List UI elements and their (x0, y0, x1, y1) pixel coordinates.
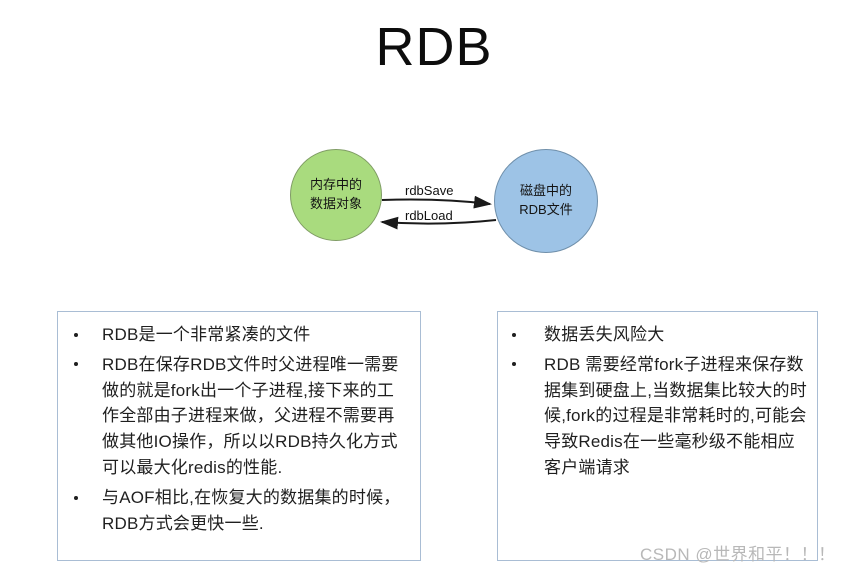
list-item: RDB 需要经常fork子进程来保存数据集到硬盘上,当数据集比较大的时候,for… (498, 352, 807, 481)
list-item-text: RDB 需要经常fork子进程来保存数据集到硬盘上,当数据集比较大的时候,for… (544, 355, 807, 477)
list-item-text: 数据丢失风险大 (544, 325, 664, 344)
diagram-node-memory: 内存中的 数据对象 (290, 149, 382, 241)
node-disk-line2: RDB文件 (519, 201, 572, 220)
list-item-text: 与AOF相比,在恢复大的数据集的时候，RDB方式会更快一些. (102, 488, 400, 533)
node-memory-line1: 内存中的 (310, 176, 362, 195)
advantages-box: RDB是一个非常紧凑的文件 RDB在保存RDB文件时父进程唯一需要做的就是for… (57, 311, 421, 561)
bullet-dot-icon (74, 496, 78, 500)
edge-label-rdbload: rdbLoad (405, 208, 453, 223)
node-memory-line2: 数据对象 (310, 195, 362, 214)
edge-rdbsave-arrow (382, 200, 490, 205)
bullet-dot-icon (512, 362, 516, 366)
list-item-text: RDB在保存RDB文件时父进程唯一需要做的就是fork出一个子进程,接下来的工作… (102, 355, 399, 477)
advantages-list: RDB是一个非常紧凑的文件 RDB在保存RDB文件时父进程唯一需要做的就是for… (58, 322, 410, 537)
list-item: RDB在保存RDB文件时父进程唯一需要做的就是fork出一个子进程,接下来的工作… (58, 352, 410, 481)
rdb-flow-diagram: 内存中的 数据对象 磁盘中的 RDB文件 rdbSave rdbLoad (0, 140, 868, 285)
watermark: CSDN @世界和平！！！ (640, 540, 836, 565)
bullet-dot-icon (512, 333, 516, 337)
edge-label-rdbsave: rdbSave (405, 183, 453, 198)
diagram-node-disk: 磁盘中的 RDB文件 (494, 149, 598, 253)
list-item: 数据丢失风险大 (498, 322, 807, 348)
list-item-text: RDB是一个非常紧凑的文件 (102, 325, 311, 344)
list-item: RDB是一个非常紧凑的文件 (58, 322, 410, 348)
list-item: 与AOF相比,在恢复大的数据集的时候，RDB方式会更快一些. (58, 485, 410, 537)
bullet-dot-icon (74, 333, 78, 337)
disadvantages-list: 数据丢失风险大 RDB 需要经常fork子进程来保存数据集到硬盘上,当数据集比较… (498, 322, 807, 481)
node-disk-line1: 磁盘中的 (520, 182, 572, 201)
page-title: RDB (0, 20, 868, 74)
disadvantages-box: 数据丢失风险大 RDB 需要经常fork子进程来保存数据集到硬盘上,当数据集比较… (497, 311, 818, 561)
bullet-dot-icon (74, 362, 78, 366)
